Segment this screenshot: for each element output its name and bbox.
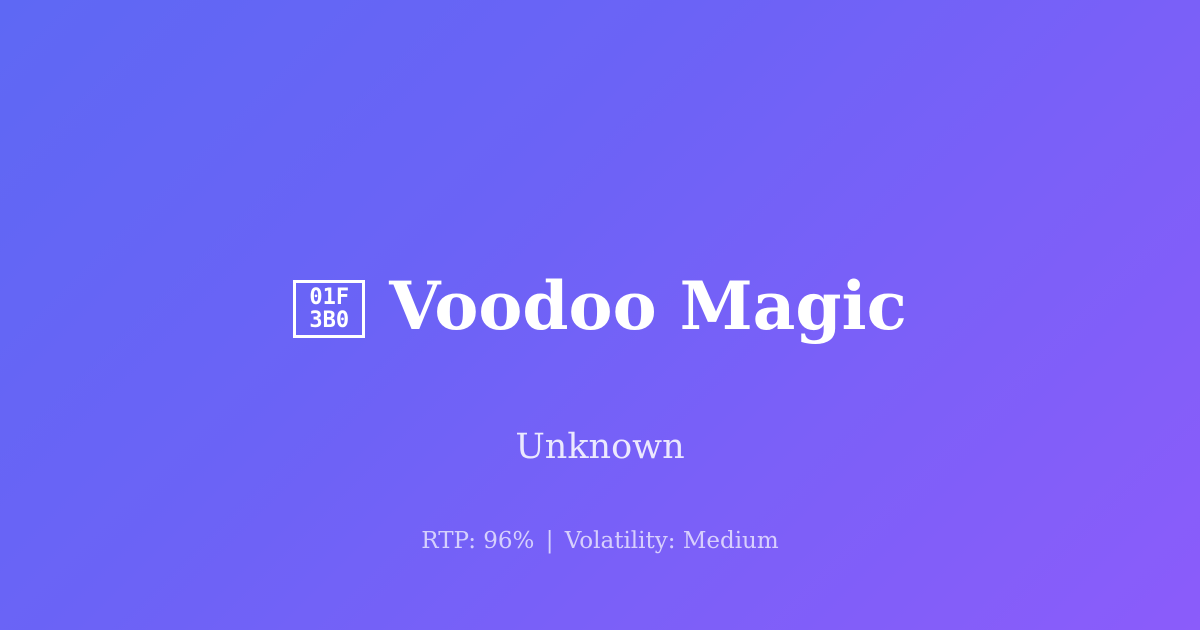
provider-subtitle: Unknown <box>515 428 684 467</box>
volatility-label: Volatility: <box>565 528 676 554</box>
hero-block: 01F 3B0 Voodoo Magic Unknown <box>0 228 1200 466</box>
page-title: Voodoo Magic <box>389 272 907 341</box>
game-stats-footer: RTP: 96% | Volatility: Medium <box>0 528 1200 556</box>
slot-machine-icon: 01F 3B0 <box>293 280 365 338</box>
rtp-label: RTP: <box>421 528 476 554</box>
rtp-value: 96% <box>483 528 534 554</box>
stats-separator: | <box>542 528 558 554</box>
tofu-codepoint-low: 3B0 <box>309 309 349 332</box>
tofu-codepoint-high: 01F <box>309 286 349 309</box>
title-row: 01F 3B0 Voodoo Magic <box>293 228 907 386</box>
game-preview-card: 01F 3B0 Voodoo Magic Unknown RTP: 96% | … <box>0 0 1200 630</box>
volatility-value: Medium <box>683 528 779 554</box>
